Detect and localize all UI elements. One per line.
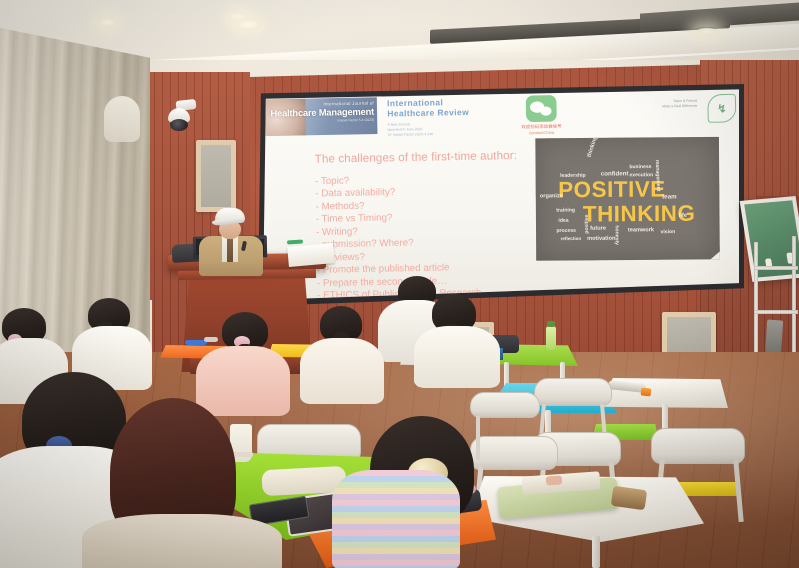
torso [82, 514, 282, 568]
camera-dome-lens-icon [170, 119, 188, 131]
slide-title: The challenges of the first-time author: [315, 150, 518, 166]
torso [414, 326, 500, 388]
acoustic-panel [196, 140, 236, 212]
wordcloud-word: organize [540, 193, 563, 199]
chair-backrest [534, 378, 612, 406]
stand-crossbar [754, 310, 798, 314]
journal-cover-image: International Journal of Healthcare Mana… [263, 97, 377, 136]
wall-ornament [104, 96, 140, 142]
wordcloud-word: execution [629, 172, 653, 178]
healthcare-review-title: International Healthcare Review [387, 97, 491, 119]
torso [196, 346, 290, 416]
wechat-icon [526, 95, 557, 122]
slide-bullet-list: - Topic? - Data availability? - Methods?… [315, 173, 482, 300]
lecture-hall-photo: International Journal of Healthcare Mana… [0, 0, 799, 568]
wordcloud-word: training [556, 207, 575, 213]
wechat-block: 欢迎扫码添加微信号 connectChina [491, 93, 592, 132]
wordcloud-word: process [556, 228, 576, 234]
presenter-tie [227, 238, 233, 262]
chair-backrest [651, 428, 745, 464]
projection-screen: International Journal of Healthcare Mana… [263, 89, 739, 300]
stand-leg [754, 242, 758, 362]
green-tea-bottle [546, 326, 556, 350]
eraser-cloth [765, 319, 783, 356]
wordcloud-word: team [662, 194, 676, 200]
downlight-icon [694, 27, 720, 36]
wordcloud-word: management [654, 160, 661, 192]
word-cloud-image: POSITIVE THINKING leadership thinking co… [535, 137, 720, 261]
table-leg [592, 536, 600, 568]
wordcloud-word: reflection [561, 236, 582, 241]
healthcare-review-logo: International Healthcare Review A New Jo… [377, 95, 492, 134]
healthcare-review-sub: A New Journal launched in June 2023 5Y I… [387, 120, 491, 138]
wechat-en-text: connectChina [492, 129, 592, 136]
chair-backrest [470, 392, 540, 418]
wordcloud-word: thinking [586, 137, 598, 158]
wordcloud-word: teamwork [628, 227, 654, 233]
wordcloud-word: life [679, 213, 687, 219]
wordcloud-highlight-stripe [669, 248, 720, 260]
wordcloud-word: honesty [614, 225, 620, 245]
bottle-cap [547, 321, 555, 327]
chair-backrest [470, 436, 558, 470]
knit-sweater-torso [332, 470, 460, 568]
wordcloud-word: idea [558, 218, 568, 224]
torso [300, 338, 384, 404]
stand-leg [792, 236, 796, 362]
publisher-mark-icon: ↯ [707, 94, 736, 123]
wordcloud-word: confident [601, 171, 629, 177]
downlight-icon [235, 19, 261, 30]
wordcloud-word: future [590, 226, 606, 232]
book-photo [546, 475, 563, 485]
white-marker [204, 337, 218, 342]
journal-cover-line3: Impact Factor 5.4 (2023) [271, 119, 375, 124]
wordcloud-word: leadership [560, 173, 586, 179]
printed-papers [287, 243, 335, 267]
wordcloud-word: vision [660, 229, 675, 235]
publisher-line2: Make a Real Difference [662, 104, 697, 110]
stand-crossbar [754, 266, 798, 270]
presentation-slide: International Journal of Healthcare Mana… [263, 89, 739, 300]
chair-leg [476, 416, 480, 460]
wordcloud-main-word: POSITIVE [558, 176, 666, 203]
laser-pointer-tip [641, 387, 652, 396]
slide-header-banner: International Journal of Healthcare Mana… [263, 91, 739, 137]
wordcloud-word: motivation [587, 236, 615, 242]
downlight-icon [98, 18, 116, 27]
publisher-logo-block: Taylor & Francis Make a Real Difference … [591, 91, 739, 130]
wordcloud-word: business [629, 164, 651, 170]
